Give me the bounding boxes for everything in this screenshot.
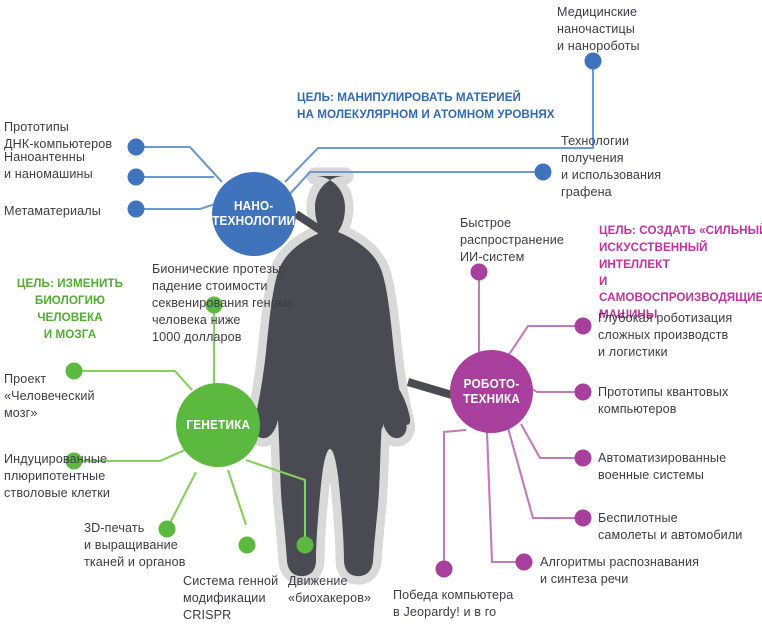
robotics-item-quantum-computers: Прототипы квантовых компьютеров bbox=[598, 384, 728, 418]
genetics-item-bionic-prosthetics: Бионические протезы, падение стоимости с… bbox=[152, 261, 294, 345]
node-dot bbox=[436, 561, 453, 578]
nano-item-graphene: Технологии получения и использования гра… bbox=[561, 133, 661, 201]
node-dot bbox=[297, 537, 314, 554]
node-dot bbox=[128, 169, 145, 186]
hub-genetics-label: ГЕНЕТИКА bbox=[186, 418, 250, 433]
hub-nanotechnologies-label: НАНО- ТЕХНОЛОГИИ bbox=[212, 199, 295, 229]
goal-nanotechnologies: ЦЕЛЬ: МАНИПУЛИРОВАТЬ МАТЕРИЕЙ НА МОЛЕКУЛ… bbox=[297, 89, 555, 123]
robotics-item-deep-robotization: Глубокая роботизация сложных производств… bbox=[598, 310, 732, 361]
goal-robotics: ЦЕЛЬ: СОЗДАТЬ «СИЛЬНЫЙ» ИСКУССТВЕННЫЙ ИН… bbox=[599, 222, 762, 323]
genetics-item-biohackers: Движение «биохакеров» bbox=[288, 573, 371, 607]
robotics-item-ai-spread: Быстрое распространение ИИ-систем bbox=[460, 215, 564, 266]
node-dot bbox=[535, 164, 552, 181]
node-dot bbox=[239, 537, 256, 554]
node-dot bbox=[575, 318, 592, 335]
node-dot bbox=[575, 384, 592, 401]
robotics-item-military-systems: Автоматизированные военные системы bbox=[598, 450, 726, 484]
nano-dots bbox=[128, 53, 602, 218]
hub-robotics-label: РОБОТО- ТЕХНИКА bbox=[463, 377, 520, 407]
nano-connectors bbox=[139, 63, 593, 209]
node-dot bbox=[128, 201, 145, 218]
genetics-item-3d-printing: 3D-печать и выращивание тканей и органов bbox=[84, 520, 186, 571]
nano-item-nanoantennas: Наноантенны и наномашины bbox=[4, 149, 93, 183]
node-dot bbox=[575, 450, 592, 467]
node-dot bbox=[516, 554, 533, 571]
node-dot bbox=[128, 139, 145, 156]
hub-nanotechnologies[interactable]: НАНО- ТЕХНОЛОГИИ bbox=[212, 172, 296, 256]
node-dot bbox=[471, 264, 488, 281]
genetics-item-stem-cells: Индуцированные плюрипотентные стволовые … bbox=[4, 451, 110, 502]
robotics-item-jeopardy-go: Победа компьютера в Jeopardy! и в го bbox=[393, 587, 513, 621]
nano-item-medical-nanoparticles: Медицинские наночастицы и нанороботы bbox=[557, 4, 640, 55]
node-dot bbox=[585, 53, 602, 70]
robotics-item-speech-recognition: Алгоритмы распознавания и синтеза речи bbox=[540, 554, 699, 588]
genetics-item-human-brain-project: Проект «Человеческий мозг» bbox=[4, 371, 95, 422]
goal-genetics: ЦЕЛЬ: ИЗМЕНИТЬ БИОЛОГИЮ ЧЕЛОВЕКА И МОЗГА bbox=[4, 275, 136, 342]
hub-robotics[interactable]: РОБОТО- ТЕХНИКА bbox=[450, 350, 533, 433]
genetics-item-crispr: Система генной модификации CRISPR bbox=[183, 573, 278, 624]
nano-item-metamaterials: Метаматериалы bbox=[4, 203, 101, 220]
robotics-item-drones: Беспилотные самолеты и автомобили bbox=[598, 510, 742, 544]
nano-item-dna-computers: Прототипы ДНК-компьютеров bbox=[4, 119, 112, 153]
infographic-canvas: НАНО- ТЕХНОЛОГИИ ГЕНЕТИКА РОБОТО- ТЕХНИК… bbox=[0, 0, 762, 626]
node-dot bbox=[575, 510, 592, 527]
hub-genetics[interactable]: ГЕНЕТИКА bbox=[176, 383, 260, 467]
